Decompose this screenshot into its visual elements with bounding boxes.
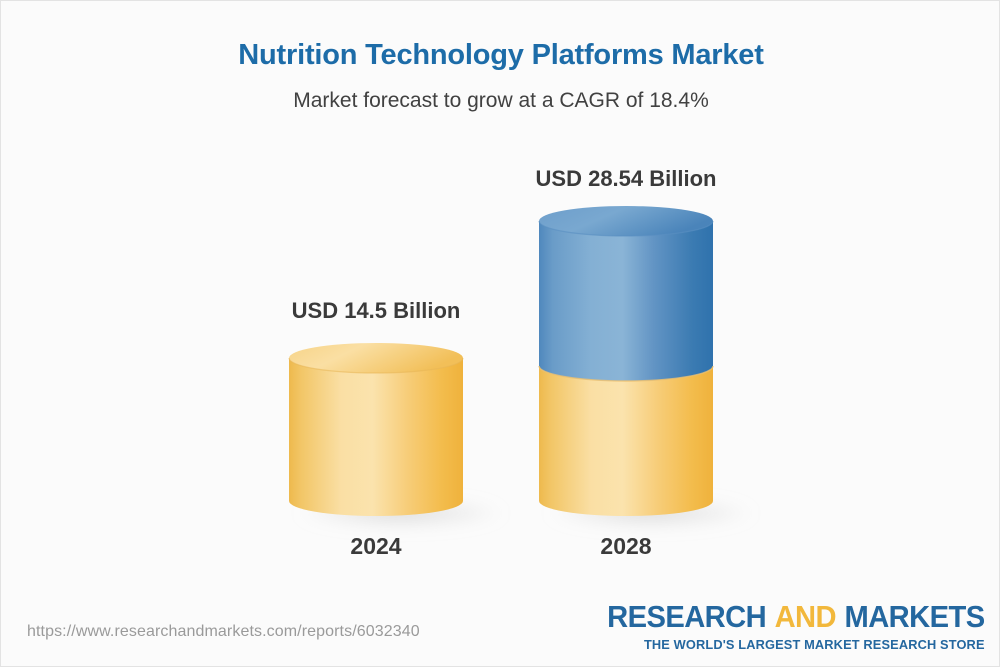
cylinder-bar-chart [1, 1, 1000, 667]
logo-word-research: RESEARCH [607, 599, 766, 634]
logo-word-markets: MARKETS [845, 599, 985, 634]
logo-tagline: THE WORLD'S LARGEST MARKET RESEARCH STOR… [595, 637, 985, 652]
bar-2028 [539, 206, 756, 530]
bar-2024-body [289, 358, 463, 516]
source-url[interactable]: https://www.researchandmarkets.com/repor… [27, 623, 420, 641]
logo-wordmark: RESEARCHANDMARKETS [607, 601, 985, 632]
value-label-2024: USD 14.5 Billion [216, 298, 536, 324]
category-label-2028: 2028 [466, 533, 786, 560]
value-label-2028: USD 28.54 Billion [466, 166, 786, 192]
bar-2024 [289, 343, 506, 530]
bar-2028-growth-segment [539, 221, 713, 381]
logo-word-and: AND [775, 599, 836, 634]
research-and-markets-logo[interactable]: RESEARCHANDMARKETS THE WORLD'S LARGEST M… [583, 601, 985, 652]
infographic-canvas: Nutrition Technology Platforms Market Ma… [0, 0, 1000, 667]
bar-2028-base-segment [539, 366, 713, 516]
